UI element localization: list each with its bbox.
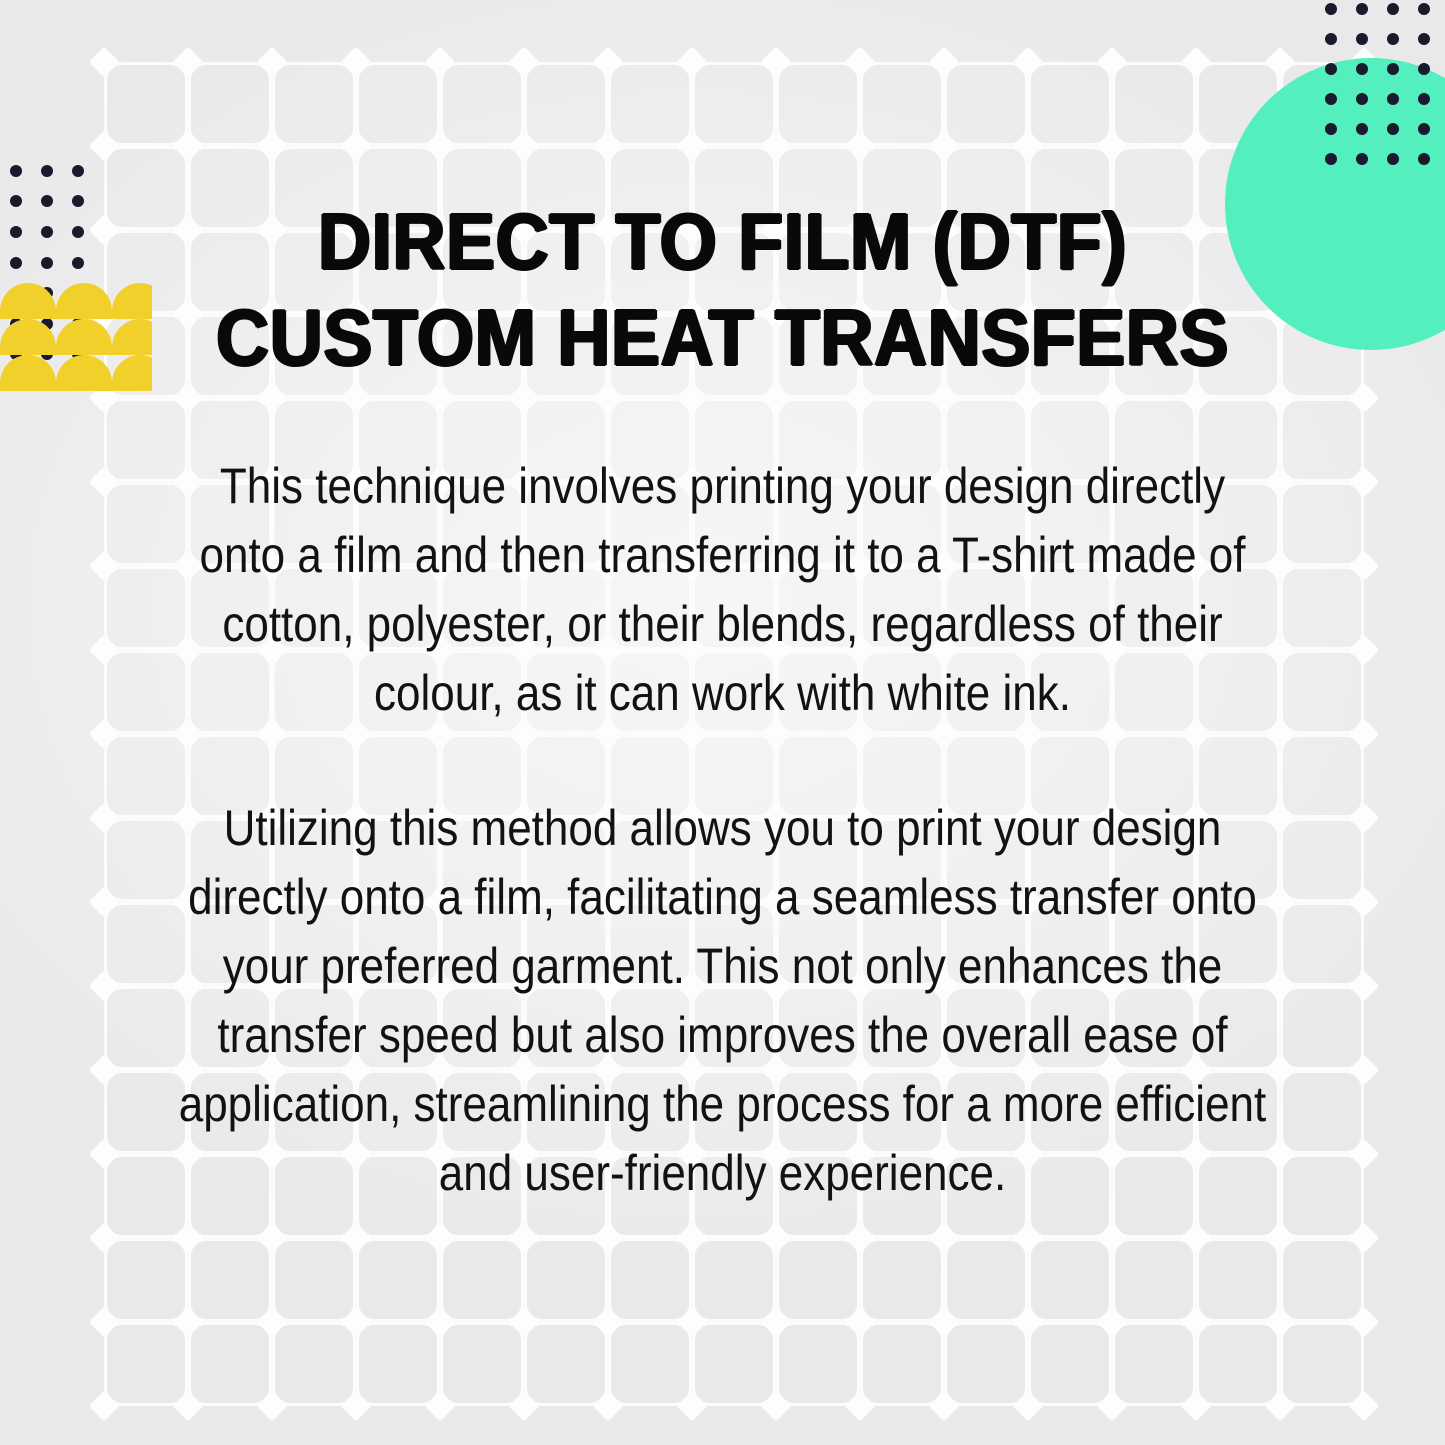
poster-canvas: DIRECT TO FILM (DTF) CUSTOM HEAT TRANSFE… xyxy=(0,0,1445,1445)
poster-content: DIRECT TO FILM (DTF) CUSTOM HEAT TRANSFE… xyxy=(0,0,1445,1445)
paragraph-1: This technique involves printing your de… xyxy=(171,452,1274,728)
body-copy: This technique involves printing your de… xyxy=(171,452,1274,1208)
page-title: DIRECT TO FILM (DTF) CUSTOM HEAT TRANSFE… xyxy=(159,194,1286,386)
paragraph-2: Utilizing this method allows you to prin… xyxy=(171,794,1274,1208)
